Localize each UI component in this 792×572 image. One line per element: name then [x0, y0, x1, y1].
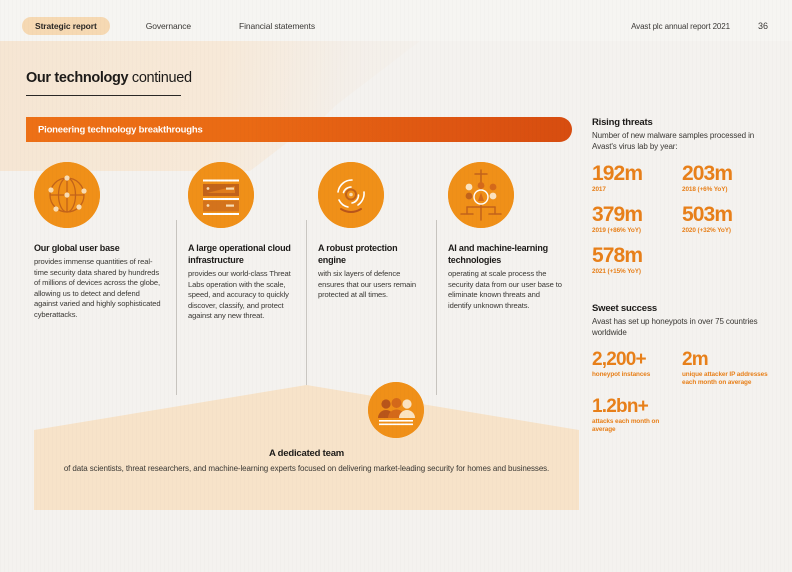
- feature-body: with six layers of defence ensures that …: [318, 269, 422, 301]
- stat-2018: 203m 2018 (+6% YoY): [682, 163, 772, 194]
- background-diagonal-band: [0, 41, 470, 171]
- tab-strategic-report[interactable]: Strategic report: [22, 17, 110, 35]
- rising-threats-heading: Rising threats: [592, 117, 772, 128]
- stat-label: 2018 (+6% YoY): [682, 186, 772, 194]
- stat-label: 2020 (+32% YoY): [682, 227, 772, 235]
- title-underline: [26, 95, 181, 96]
- stat-value: 2m: [682, 349, 772, 370]
- team-title: A dedicated team: [34, 448, 579, 459]
- feature-body: provides our world-class Threat Labs ope…: [188, 269, 292, 322]
- people-group-icon: [368, 382, 424, 438]
- feature-title: AI and machine-learning technologies: [448, 242, 565, 266]
- stat-2021: 578m 2021 (+15% YoY): [592, 245, 682, 276]
- globe-network-icon: [34, 162, 100, 228]
- statistics-sidebar: Rising threats Number of new malware sam…: [592, 117, 772, 443]
- stat-label: 2019 (+86% YoY): [592, 227, 682, 235]
- feature-title: A robust protection engine: [318, 242, 422, 266]
- banner-label: Pioneering technology breakthroughs: [38, 124, 203, 135]
- feature-columns: Our global user base provides immense qu…: [34, 162, 579, 322]
- stat-label: unique attacker IP addresses each month …: [682, 371, 772, 387]
- document-title: Avast plc annual report 2021: [631, 22, 730, 31]
- stat-value: 2,200+: [592, 349, 682, 370]
- page-bottom-margin: [0, 510, 792, 572]
- stat-value: 379m: [592, 204, 682, 226]
- feature-column-cloud-infrastructure: A large operational cloud infrastructure…: [176, 162, 306, 322]
- feature-body: operating at scale process the security …: [448, 269, 565, 311]
- server-rack-icon: [188, 162, 254, 228]
- feature-title: A large operational cloud infrastructure: [188, 242, 292, 266]
- team-body: of data scientists, threat researchers, …: [34, 463, 579, 474]
- feature-column-protection-engine: A robust protection engine with six laye…: [306, 162, 436, 322]
- tab-financial-statements[interactable]: Financial statements: [227, 17, 327, 35]
- stat-label: attacks each month on average: [592, 418, 682, 434]
- sweet-success-heading: Sweet success: [592, 303, 772, 314]
- feature-column-ai-machine-learning: AI and machine-learning technologies ope…: [436, 162, 579, 322]
- stat-2020: 503m 2020 (+32% YoY): [682, 204, 772, 235]
- stat-label: 2021 (+15% YoY): [592, 268, 682, 276]
- feature-column-global-user-base: Our global user base provides immense qu…: [34, 162, 176, 322]
- stat-value: 203m: [682, 163, 772, 185]
- radar-shield-icon: [318, 162, 384, 228]
- stat-value: 192m: [592, 163, 682, 185]
- column-divider: [306, 220, 307, 395]
- feature-body: provides immense quantities of real-time…: [34, 257, 162, 320]
- stat-value: 578m: [592, 245, 682, 267]
- ai-neural-network-icon: [448, 162, 514, 228]
- stat-value: 1.2bn+: [592, 396, 682, 417]
- stat-value: 503m: [682, 204, 772, 226]
- stat-2017: 192m 2017: [592, 163, 682, 194]
- stat-label: honeypot instances: [592, 371, 682, 379]
- annual-report-page: Strategic report Governance Financial st…: [0, 0, 792, 572]
- page-title: Our technology continued: [26, 70, 192, 86]
- sweet-success-subtitle: Avast has set up honeypots in over 75 co…: [592, 317, 772, 338]
- column-divider: [436, 220, 437, 395]
- top-navigation-bar: Strategic report Governance Financial st…: [0, 0, 792, 41]
- stat-attacks-per-month: 1.2bn+ attacks each month on average: [592, 396, 682, 434]
- rising-threats-section: Rising threats Number of new malware sam…: [592, 117, 772, 286]
- section-tabs: Strategic report Governance Financial st…: [22, 17, 351, 35]
- pioneering-banner: Pioneering technology breakthroughs: [26, 117, 572, 142]
- page-title-bold: Our technology: [26, 70, 128, 86]
- header-meta: Avast plc annual report 2021 36: [631, 21, 768, 31]
- sweet-success-section: Sweet success Avast has set up honeypots…: [592, 303, 772, 443]
- tab-governance[interactable]: Governance: [134, 17, 203, 35]
- page-title-continued: continued: [128, 70, 191, 86]
- page-number: 36: [758, 21, 768, 31]
- stat-2019: 379m 2019 (+86% YoY): [592, 204, 682, 235]
- dedicated-team-text: A dedicated team of data scientists, thr…: [34, 448, 579, 474]
- feature-title: Our global user base: [34, 242, 162, 254]
- stat-unique-attacker-ips: 2m unique attacker IP addresses each mon…: [682, 349, 772, 387]
- column-divider: [176, 220, 177, 395]
- rising-threats-stats: 192m 2017 203m 2018 (+6% YoY) 379m 2019 …: [592, 163, 772, 286]
- rising-threats-subtitle: Number of new malware samples processed …: [592, 131, 772, 152]
- stat-label: 2017: [592, 186, 682, 194]
- sweet-success-stats: 2,200+ honeypot instances 2m unique atta…: [592, 349, 772, 443]
- stat-honeypot-instances: 2,200+ honeypot instances: [592, 349, 682, 387]
